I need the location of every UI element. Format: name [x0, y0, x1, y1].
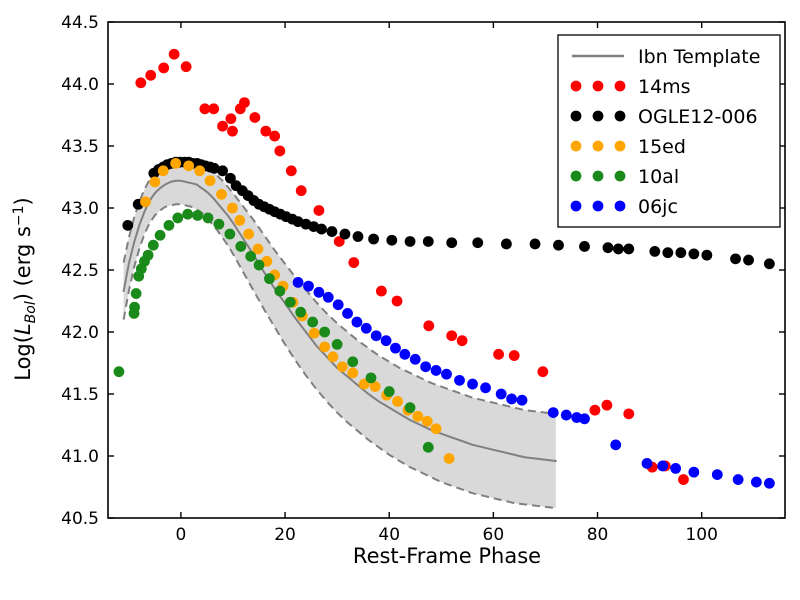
- x-tick-label: 100: [685, 525, 717, 545]
- data-point: [181, 61, 192, 72]
- data-point: [224, 229, 235, 240]
- data-point: [352, 317, 363, 328]
- legend-marker-swatch: [571, 201, 582, 212]
- y-title-subscript: Bol: [23, 301, 39, 323]
- data-point: [340, 229, 351, 240]
- figure-container: 02040608010040.541.041.542.042.543.043.5…: [0, 0, 800, 600]
- data-point: [561, 410, 572, 421]
- data-point: [548, 407, 559, 418]
- data-point: [214, 219, 225, 230]
- data-point: [412, 411, 423, 422]
- y-title-base: L: [11, 323, 35, 335]
- data-point: [205, 175, 216, 186]
- data-point: [509, 350, 520, 361]
- data-point: [764, 478, 775, 489]
- data-point: [235, 241, 246, 252]
- legend-marker-swatch: [571, 141, 582, 152]
- y-axis-title: Log(LBol) (erg s−1): [11, 197, 39, 381]
- data-point: [454, 375, 465, 386]
- y-tick-label: 43.5: [61, 137, 99, 157]
- data-point: [307, 317, 318, 328]
- data-point: [446, 237, 457, 248]
- data-point: [446, 330, 457, 341]
- legend-marker-swatch: [615, 201, 626, 212]
- legend-marker-swatch: [571, 171, 582, 182]
- y-tick-label: 44.5: [61, 13, 99, 33]
- data-point: [333, 299, 344, 310]
- data-point: [316, 224, 327, 235]
- data-point: [405, 236, 416, 247]
- data-point: [131, 288, 142, 299]
- data-point: [423, 442, 434, 453]
- data-point: [506, 394, 517, 405]
- data-point: [143, 250, 154, 261]
- data-point: [701, 250, 712, 261]
- data-point: [517, 395, 528, 406]
- data-point: [158, 165, 169, 176]
- data-point: [361, 323, 372, 334]
- data-point: [579, 413, 590, 424]
- data-point: [327, 226, 338, 237]
- data-point: [530, 239, 541, 250]
- x-tick-label: 0: [175, 525, 186, 545]
- data-point: [371, 330, 382, 341]
- data-point: [314, 205, 325, 216]
- legend-marker-swatch: [615, 81, 626, 92]
- svg-text:Log(LBol) (erg s−1): Log(LBol) (erg s−1): [11, 197, 39, 381]
- data-point: [296, 185, 307, 196]
- data-point: [155, 230, 166, 241]
- y-title-prefix: Log(: [11, 335, 35, 381]
- data-point: [226, 113, 237, 124]
- legend-marker-swatch: [593, 171, 604, 182]
- data-point: [623, 408, 634, 419]
- data-point: [323, 292, 334, 303]
- data-point: [249, 112, 260, 123]
- data-point: [623, 244, 634, 255]
- data-point: [182, 209, 193, 220]
- data-point: [423, 236, 434, 247]
- data-point: [194, 165, 205, 176]
- data-point: [579, 241, 590, 252]
- data-point: [688, 248, 699, 259]
- data-point: [381, 335, 392, 346]
- data-point: [678, 474, 689, 485]
- legend-marker-swatch: [593, 111, 604, 122]
- data-point: [410, 354, 421, 365]
- x-tick-label: 80: [587, 525, 609, 545]
- data-point: [239, 97, 250, 108]
- legend-marker-swatch: [593, 81, 604, 92]
- data-point: [496, 389, 507, 400]
- data-point: [399, 349, 410, 360]
- data-point: [269, 131, 280, 142]
- data-point: [384, 386, 395, 397]
- data-point: [662, 247, 673, 258]
- bolometric-lightcurve-chart: 02040608010040.541.041.542.042.543.043.5…: [0, 0, 800, 600]
- data-point: [493, 349, 504, 360]
- data-point: [158, 62, 169, 73]
- data-point: [347, 368, 358, 379]
- data-point: [472, 237, 483, 248]
- data-point: [390, 343, 401, 354]
- x-tick-label: 20: [274, 525, 296, 545]
- data-point: [135, 77, 146, 88]
- data-point: [286, 165, 297, 176]
- data-point: [420, 361, 431, 372]
- data-point: [145, 70, 156, 81]
- chart-legend: Ibn Template14msOGLE12-00615ed10al06jc: [558, 35, 780, 227]
- legend-marker-swatch: [615, 141, 626, 152]
- data-point: [431, 423, 442, 434]
- data-point: [431, 365, 442, 376]
- legend-label: 14ms: [638, 76, 691, 98]
- y-tick-label: 40.5: [61, 509, 99, 529]
- data-point: [657, 461, 668, 472]
- data-point: [480, 382, 491, 393]
- data-point: [192, 210, 203, 221]
- data-point: [537, 366, 548, 377]
- x-tick-label: 60: [483, 525, 505, 545]
- data-point: [129, 302, 140, 313]
- legend-marker-swatch: [615, 111, 626, 122]
- x-tick-label: 40: [378, 525, 400, 545]
- data-point: [743, 255, 754, 266]
- data-point: [613, 244, 624, 255]
- data-point: [353, 231, 364, 242]
- data-point: [172, 213, 183, 224]
- data-point: [234, 215, 245, 226]
- data-point: [342, 308, 353, 319]
- data-point: [227, 203, 238, 214]
- data-point: [590, 405, 601, 416]
- y-tick-label: 41.5: [61, 385, 99, 405]
- data-point: [114, 366, 125, 377]
- data-point: [149, 177, 160, 188]
- data-point: [603, 242, 614, 253]
- data-point: [347, 356, 358, 367]
- data-point: [140, 196, 151, 207]
- y-tick-label: 42.0: [61, 323, 99, 343]
- data-point: [169, 49, 180, 60]
- data-point: [688, 467, 699, 478]
- data-point: [392, 296, 403, 307]
- data-point: [319, 327, 330, 338]
- data-point: [309, 328, 320, 339]
- legend-label: 10al: [638, 166, 679, 188]
- data-point: [208, 103, 219, 114]
- data-point: [649, 246, 660, 257]
- data-point: [602, 400, 613, 411]
- data-point: [254, 260, 265, 271]
- data-point: [303, 281, 314, 292]
- data-point: [245, 251, 256, 262]
- data-point: [314, 287, 325, 298]
- data-point: [164, 220, 175, 231]
- data-point: [675, 247, 686, 258]
- legend-marker-swatch: [571, 111, 582, 122]
- data-point: [122, 220, 133, 231]
- data-point: [764, 258, 775, 269]
- data-point: [183, 160, 194, 171]
- data-point: [285, 297, 296, 308]
- data-point: [216, 189, 227, 200]
- data-point: [295, 307, 306, 318]
- data-point: [293, 277, 304, 288]
- x-axis-title: Rest-Frame Phase: [353, 544, 541, 568]
- data-point: [227, 126, 238, 137]
- legend-label: Ibn Template: [638, 46, 760, 68]
- data-point: [467, 379, 478, 390]
- legend-marker-swatch: [571, 81, 582, 92]
- data-point: [441, 369, 452, 380]
- data-point: [217, 165, 228, 176]
- data-point: [203, 213, 214, 224]
- data-point: [422, 416, 433, 427]
- data-point: [712, 469, 723, 480]
- data-point: [386, 235, 397, 246]
- data-point: [610, 439, 621, 450]
- data-point: [392, 396, 403, 407]
- legend-label: 06jc: [638, 196, 678, 218]
- data-point: [501, 239, 512, 250]
- data-point: [319, 341, 330, 352]
- y-tick-label: 42.5: [61, 261, 99, 281]
- data-point: [348, 257, 359, 268]
- data-point: [733, 474, 744, 485]
- y-title-suffix: ): [11, 197, 35, 205]
- data-point: [264, 273, 275, 284]
- legend-marker-swatch: [615, 171, 626, 182]
- data-point: [328, 351, 339, 362]
- data-point: [170, 158, 181, 169]
- legend-label: OGLE12-006: [638, 106, 758, 128]
- data-point: [243, 229, 254, 240]
- legend-marker-swatch: [593, 141, 604, 152]
- data-point: [457, 335, 468, 346]
- data-point: [332, 339, 343, 350]
- data-point: [730, 253, 741, 264]
- y-title-superscript: −1: [11, 205, 27, 226]
- data-point: [217, 121, 228, 132]
- legend-label: 15ed: [638, 136, 686, 158]
- y-tick-label: 44.0: [61, 75, 99, 95]
- data-point: [337, 361, 348, 372]
- data-point: [642, 458, 653, 469]
- y-title-middle: ) (erg s: [11, 226, 35, 301]
- y-tick-label: 43.0: [61, 199, 99, 219]
- data-point: [423, 320, 434, 331]
- data-point: [368, 234, 379, 245]
- data-point: [751, 477, 762, 488]
- data-point: [376, 286, 387, 297]
- data-point: [553, 240, 564, 251]
- data-point: [148, 240, 159, 251]
- data-point: [670, 463, 681, 474]
- data-point: [274, 286, 285, 297]
- legend-marker-swatch: [593, 201, 604, 212]
- data-point: [444, 453, 455, 464]
- data-point: [366, 372, 377, 383]
- data-point: [405, 402, 416, 413]
- data-point: [274, 146, 285, 157]
- y-tick-label: 41.0: [61, 447, 99, 467]
